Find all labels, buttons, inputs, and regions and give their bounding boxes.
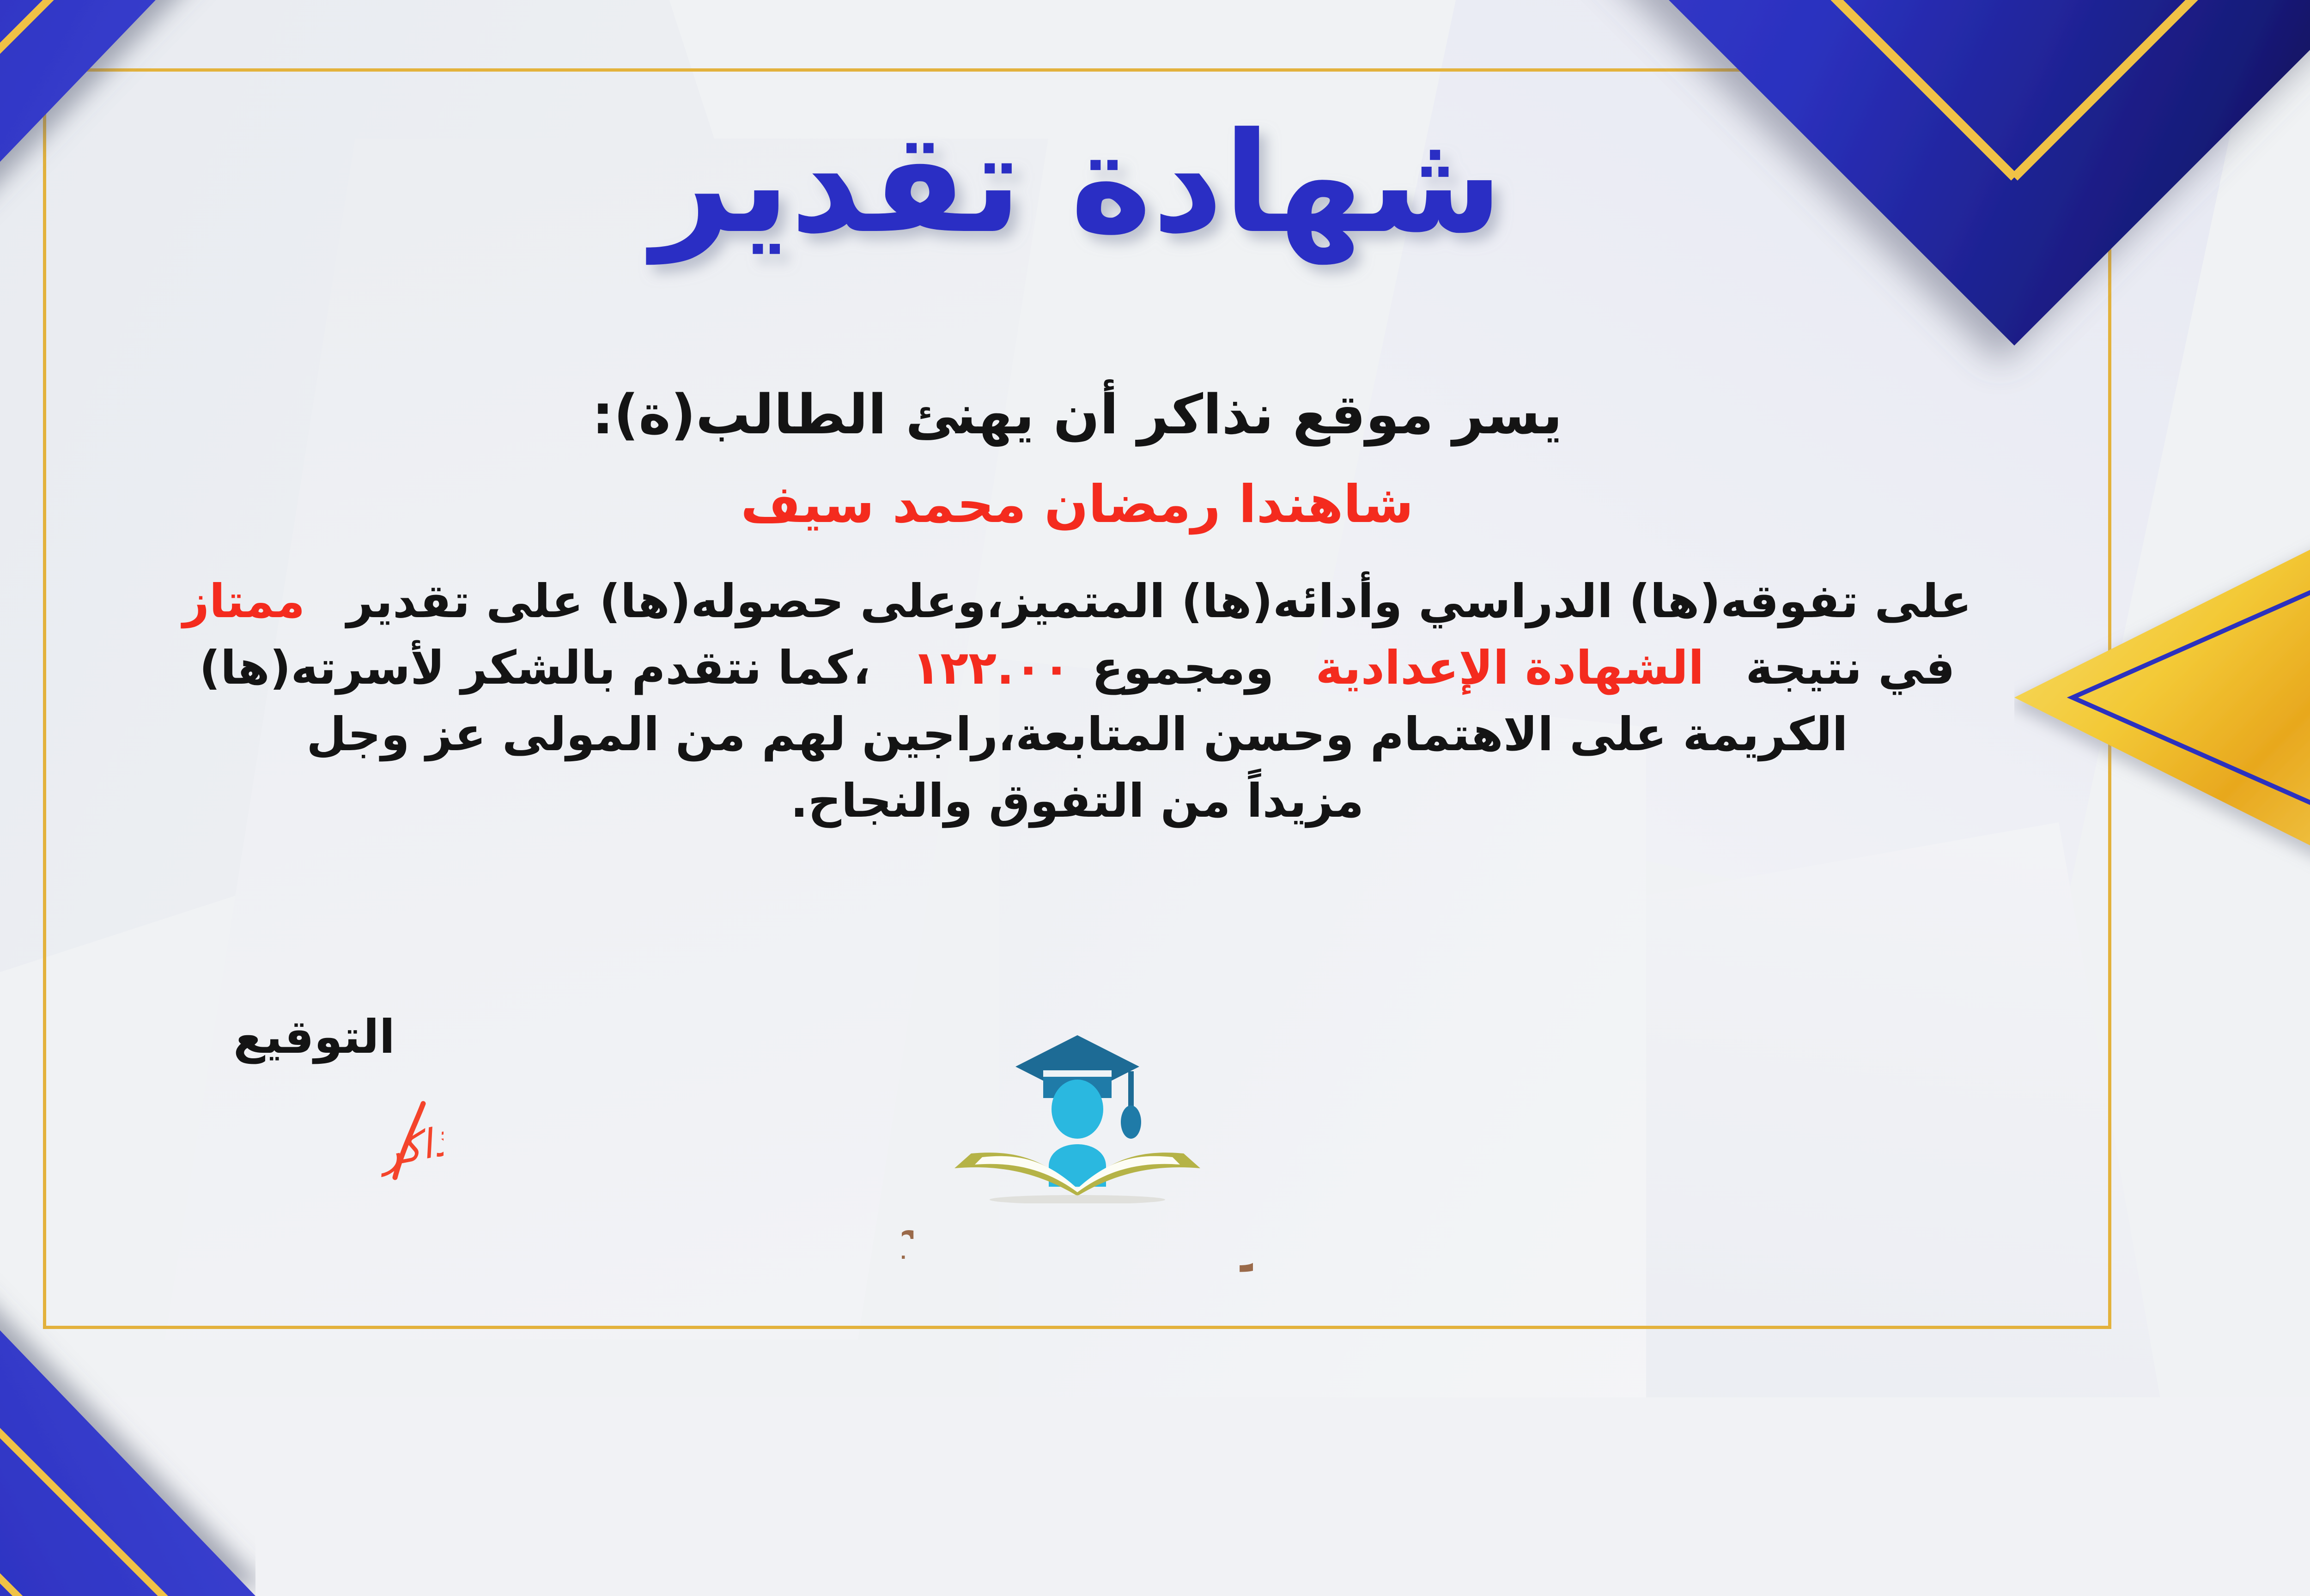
citation-line-3: الكريمة على الاهتمام وحسن المتابعة،راجين… [66, 701, 2088, 768]
logo-wordmark: Nezakr نذاكر [902, 1205, 1253, 1274]
graduate-book-icon [934, 1019, 1221, 1203]
certificate-title-calligraphy: شهادة تقدير [523, 79, 1632, 291]
certificate-body: يسر موقع نذاكر أن يهنئ الطالب(ة): شاهندا… [66, 383, 2088, 834]
certificate-title-block: شهادة تقدير [0, 79, 2310, 291]
total-value: ١٢٢.٠٠ [912, 641, 1070, 695]
book-shadow [990, 1195, 1165, 1203]
site-logo: Nezakr نذاكر [846, 1019, 1308, 1274]
student-name: شاهندا رمضان محمد سيف [66, 475, 2088, 534]
title-glyphs: شهادة تقدير [645, 103, 1502, 266]
grade-value: ممتاز [182, 574, 305, 628]
mortarboard-band-highlight [1043, 1070, 1112, 1077]
logo-arabic-text: نذاكر [1240, 1209, 1253, 1272]
certificate-footer: التوقيع موقع نذاكر Nezakr نذاك [0, 1014, 2310, 1300]
citation-line-1-text: على تفوقه(ها) الدراسي وأدائه(ها) المتميز… [346, 574, 1971, 628]
signature-block: التوقيع موقع نذاكر [139, 1014, 490, 1199]
citation-line-1: على تفوقه(ها) الدراسي وأدائه(ها) المتميز… [66, 568, 2088, 635]
citation-line-2-suffix: ،كما نتقدم بالشكر لأسرته(ها) [199, 641, 870, 695]
graduate-head [1052, 1080, 1103, 1139]
logo-latin-text: Nezakr [902, 1209, 914, 1272]
greeting-line: يسر موقع نذاكر أن يهنئ الطالب(ة): [66, 383, 2088, 446]
handwritten-signature: موقع نذاكر [185, 1081, 444, 1197]
citation-paragraph: على تفوقه(ها) الدراسي وأدائه(ها) المتميز… [66, 568, 2088, 834]
tassel-knot [1121, 1105, 1141, 1139]
citation-line-2: في نتيجةالشهادة الإعداديةومجموع١٢٢.٠٠،كم… [66, 635, 2088, 701]
total-label: ومجموع [1092, 641, 1274, 695]
exam-name: الشهادة الإعدادية [1315, 641, 1704, 695]
citation-line-4: مزيداً من التفوق والنجاح. [66, 768, 2088, 834]
signature-label: التوقيع [139, 1014, 490, 1060]
result-prefix: في نتيجة [1745, 641, 1955, 695]
